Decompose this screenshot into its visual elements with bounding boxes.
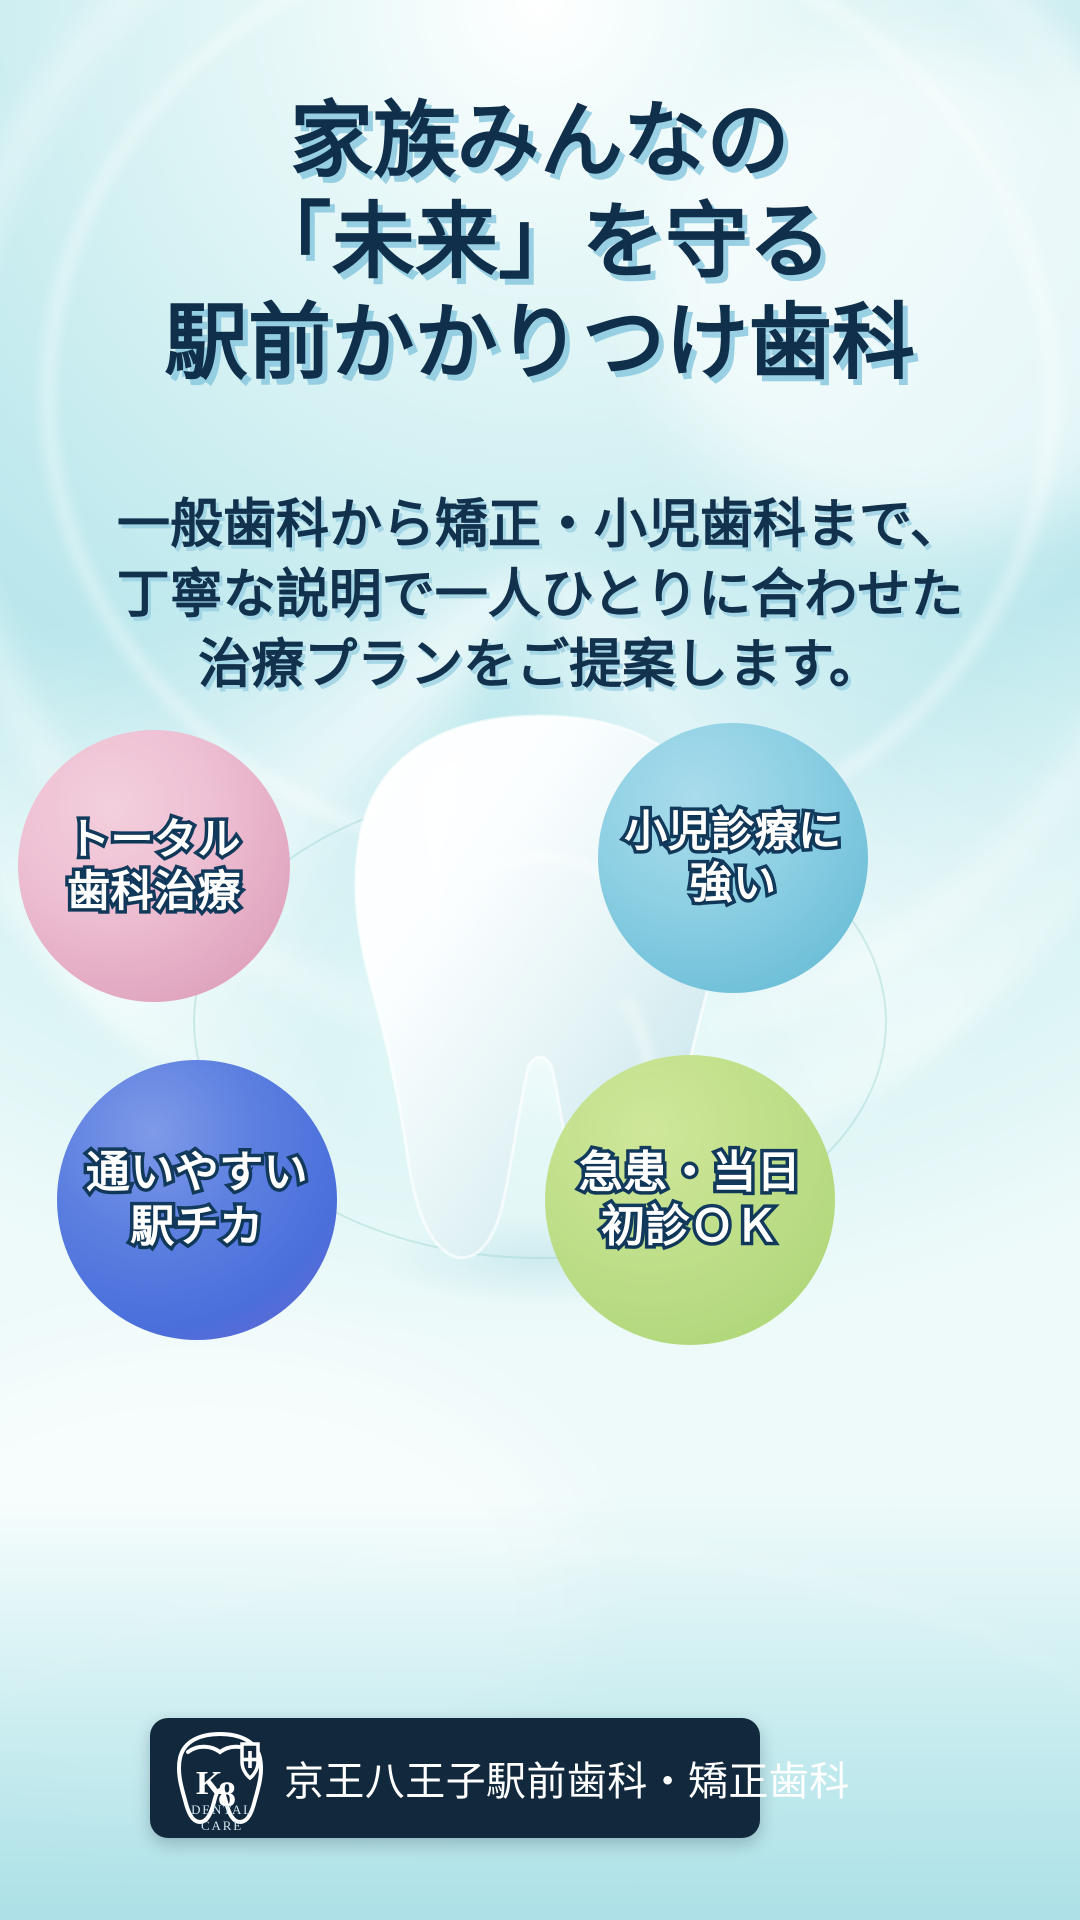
- badge-blue-line-1: 通いやすい: [86, 1146, 308, 1200]
- badge-pediatric[interactable]: 小児診療に 強い: [598, 723, 868, 993]
- badge-pink-line-2: 歯科治療: [67, 866, 241, 918]
- badge-blue-line-2: 駅チカ: [86, 1200, 308, 1254]
- clinic-name: 京王八王子駅前歯科・矯正歯科: [284, 1749, 850, 1807]
- subtitle-line-3: 治療プランをご提案します。: [0, 630, 1080, 700]
- headline-line-2: 「未来」を守る: [0, 196, 1080, 289]
- k8-tooth-logo-icon: K 8 DENTAL CARE: [172, 1726, 268, 1830]
- badge-pink-line-1: トータル: [67, 814, 241, 866]
- badge-green-line-2: 初診ＯＫ: [579, 1200, 801, 1254]
- headline: 家族みんなの 「未来」を守る 駅前かかりつけ歯科: [0, 95, 1080, 390]
- badge-green-text: 急患・当日 初診ＯＫ: [579, 1146, 801, 1253]
- background-bottom-tint: [0, 1498, 1080, 1920]
- clinic-logo-bar[interactable]: K 8 DENTAL CARE 京王八王子駅前歯科・矯正歯科: [150, 1718, 760, 1838]
- badge-lightblue-line-2: 強い: [624, 858, 841, 910]
- badge-lightblue-text: 小児診療に 強い: [624, 806, 841, 911]
- badge-lightblue-line-1: 小児診療に: [624, 806, 841, 858]
- badge-blue-text: 通いやすい 駅チカ: [86, 1146, 308, 1253]
- subtitle: 一般歯科から矯正・小児歯科まで、 丁寧な説明で一人ひとりに合わせた 治療プランを…: [0, 490, 1080, 700]
- badge-emergency-sameday[interactable]: 急患・当日 初診ＯＫ: [545, 1055, 835, 1345]
- logo-subtitle: DENTAL CARE: [170, 1802, 274, 1834]
- badge-total-dental-care[interactable]: トータル 歯科治療: [18, 730, 290, 1002]
- badge-green-line-1: 急患・当日: [579, 1146, 801, 1200]
- badge-station-access[interactable]: 通いやすい 駅チカ: [57, 1060, 337, 1340]
- subtitle-line-2: 丁寧な説明で一人ひとりに合わせた: [0, 560, 1080, 630]
- subtitle-line-1: 一般歯科から矯正・小児歯科まで、: [0, 490, 1080, 560]
- headline-line-3: 駅前かかりつけ歯科: [0, 297, 1080, 390]
- headline-line-1: 家族みんなの: [0, 95, 1080, 188]
- badge-pink-text: トータル 歯科治療: [67, 814, 241, 919]
- poster-root: 家族みんなの 「未来」を守る 駅前かかりつけ歯科 一般歯科から矯正・小児歯科まで…: [0, 0, 1080, 1920]
